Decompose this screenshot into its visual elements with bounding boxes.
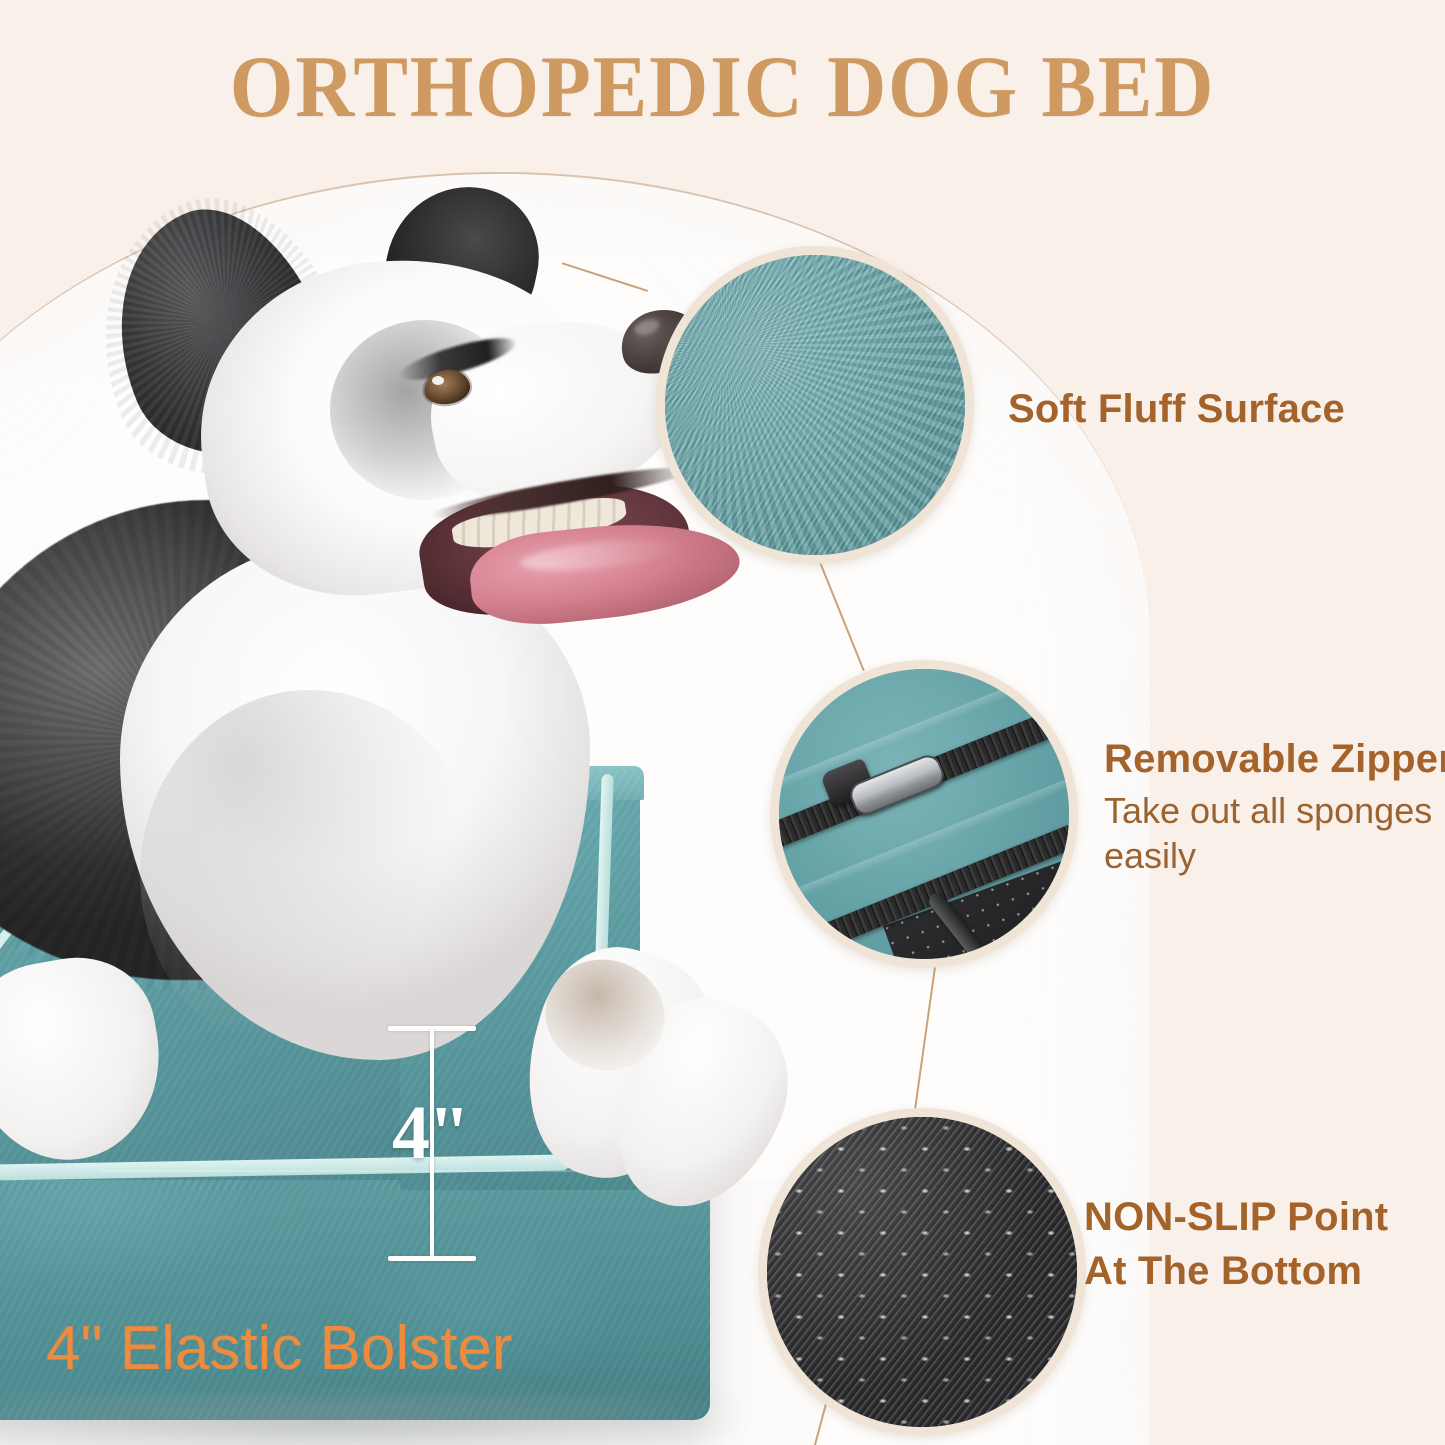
feature-swatch-removable-zipper	[770, 660, 1078, 968]
fluff-texture-icon	[665, 255, 965, 555]
feature-swatch-soft-fluff-surface	[656, 246, 974, 564]
non-slip-sheen	[767, 1117, 1077, 1427]
feature-title-line-1: NON-SLIP Point	[1084, 1190, 1388, 1244]
feature-subtitle: Take out all sponges easily	[1104, 788, 1434, 878]
feature-title: Removable Zipper	[1104, 736, 1445, 782]
feature-label-soft-fluff-surface: Soft Fluff Surface	[1008, 386, 1345, 432]
feature-swatch-non-slip-point	[758, 1108, 1086, 1436]
feature-label-non-slip-point: NON-SLIP Point At The Bottom	[1084, 1190, 1388, 1298]
dimension-cap-bottom	[388, 1256, 476, 1261]
bed-drop-shadow	[0, 1395, 740, 1445]
dimension-label: 4"	[392, 1095, 468, 1171]
bed-seam	[100, 1170, 620, 1172]
dog-eye-highlight	[432, 376, 444, 385]
dog-chest-shading	[140, 690, 480, 1060]
product-infographic: ORTHOPEDIC DOG BED	[0, 0, 1445, 1445]
page-title: ORTHOPEDIC DOG BED	[51, 44, 1395, 132]
feature-title: Soft Fluff Surface	[1008, 386, 1345, 432]
zipper-fabric-texture	[779, 669, 1069, 959]
dog	[0, 170, 760, 1070]
feature-title-line-2: At The Bottom	[1084, 1244, 1388, 1298]
feature-label-removable-zipper: Removable Zipper Take out all sponges ea…	[1104, 736, 1445, 878]
bolster-caption: 4" Elastic Bolster	[46, 1318, 513, 1380]
